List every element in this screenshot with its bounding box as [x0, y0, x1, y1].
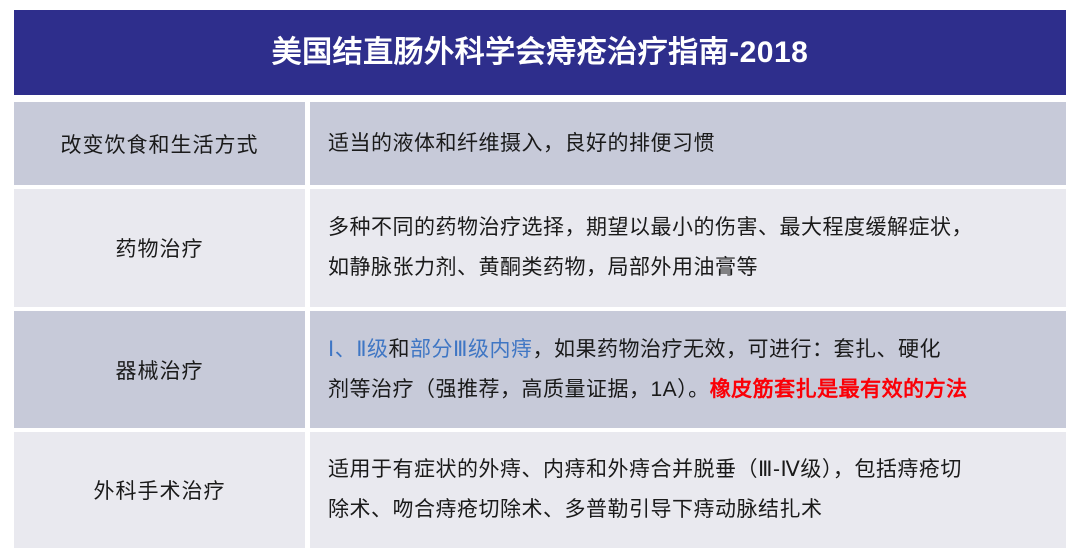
row-label-cell: 药物治疗: [14, 189, 305, 307]
row-content-cell: 适当的液体和纤维摄入，良好的排便习惯: [310, 102, 1066, 185]
row-content-cell: 适用于有症状的外痔、内痔和外痔合并脱垂（Ⅲ-Ⅳ级），包括痔疮切 除术、吻合痔疮切…: [310, 432, 1066, 548]
text-segment: 多种不同的药物治疗选择，期望以最小的伤害、最大程度缓解症状，: [328, 216, 973, 239]
content-line: 剂等治疗（强推荐，高质量证据，1A）。橡皮筋套扎是最有效的方法: [328, 370, 1052, 410]
content-line: 多种不同的药物治疗选择，期望以最小的伤害、最大程度缓解症状，: [328, 208, 1052, 248]
text-segment-highlight-red: 橡皮筋套扎是最有效的方法: [710, 378, 968, 401]
row-content-cell: Ⅰ、Ⅱ级和部分Ⅲ级内痔，如果药物治疗无效，可进行：套扎、硬化 剂等治疗（强推荐，…: [310, 311, 1066, 428]
slide-title-bar: 美国结直肠外科学会痔疮治疗指南-2018: [14, 10, 1066, 95]
text-segment: 适用于有症状的外痔、内痔和外痔合并脱垂（Ⅲ-Ⅳ级），包括痔疮切: [328, 458, 962, 481]
text-segment: ，如果药物治疗无效，可进行：套扎、硬化: [533, 338, 942, 361]
text-segment: 适当的液体和纤维摄入，良好的排便习惯: [328, 132, 715, 155]
guideline-table: 改变饮食和生活方式 适当的液体和纤维摄入，良好的排便习惯 药物治疗 多种不同的药…: [14, 102, 1066, 548]
text-segment-highlight-blue: 部分Ⅲ级内痔: [410, 338, 532, 361]
page-title: 美国结直肠外科学会痔疮治疗指南-2018: [272, 36, 809, 69]
content-line: 适用于有症状的外痔、内痔和外痔合并脱垂（Ⅲ-Ⅳ级），包括痔疮切: [328, 450, 1052, 490]
row-label-cell: 外科手术治疗: [14, 432, 305, 548]
content-line: Ⅰ、Ⅱ级和部分Ⅲ级内痔，如果药物治疗无效，可进行：套扎、硬化: [328, 330, 1052, 370]
table-row: 药物治疗 多种不同的药物治疗选择，期望以最小的伤害、最大程度缓解症状， 如静脉张…: [14, 189, 1066, 307]
row-label-cell: 改变饮食和生活方式: [14, 102, 305, 185]
text-segment-highlight-blue: Ⅰ、Ⅱ级: [328, 338, 389, 361]
content-line: 适当的液体和纤维摄入，良好的排便习惯: [328, 124, 1052, 164]
content-line: 如静脉张力剂、黄酮类药物，局部外用油膏等: [328, 248, 1052, 288]
content-line: 除术、吻合痔疮切除术、多普勒引导下痔动脉结扎术: [328, 490, 1052, 530]
text-segment: 和: [389, 338, 411, 361]
table-row: 器械治疗 Ⅰ、Ⅱ级和部分Ⅲ级内痔，如果药物治疗无效，可进行：套扎、硬化 剂等治疗…: [14, 311, 1066, 428]
text-segment: 如静脉张力剂、黄酮类药物，局部外用油膏等: [328, 256, 758, 279]
table-row: 改变饮食和生活方式 适当的液体和纤维摄入，良好的排便习惯: [14, 102, 1066, 185]
text-segment: 除术、吻合痔疮切除术、多普勒引导下痔动脉结扎术: [328, 498, 823, 521]
row-content-cell: 多种不同的药物治疗选择，期望以最小的伤害、最大程度缓解症状， 如静脉张力剂、黄酮…: [310, 189, 1066, 307]
text-segment: 剂等治疗（强推荐，高质量证据，1A）。: [328, 378, 710, 401]
row-label-cell: 器械治疗: [14, 311, 305, 428]
table-row: 外科手术治疗 适用于有症状的外痔、内痔和外痔合并脱垂（Ⅲ-Ⅳ级），包括痔疮切 除…: [14, 432, 1066, 548]
slide-root: 美国结直肠外科学会痔疮治疗指南-2018 改变饮食和生活方式 适当的液体和纤维摄…: [0, 0, 1080, 558]
